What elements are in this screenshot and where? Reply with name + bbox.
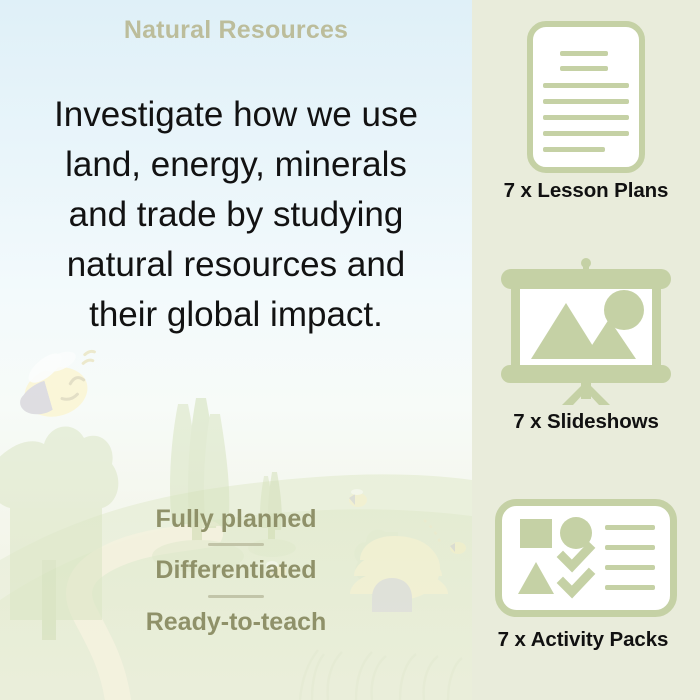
description-line: and trade by studying	[18, 190, 454, 240]
resource-item-lesson-plans[interactable]: 7 x Lesson Plans	[472, 14, 700, 203]
description-line: Investigate how we use	[18, 90, 454, 140]
feature-item-differentiated: Differentiated	[0, 557, 472, 583]
description-line: their global impact.	[18, 290, 454, 340]
resource-promo-poster: Natural Resources Investigate how we use…	[0, 0, 700, 700]
resource-label-activity-packs: 7 x Activity Packs	[466, 628, 700, 652]
feature-item-ready-to-teach: Ready-to-teach	[0, 609, 472, 635]
left-panel: Natural Resources Investigate how we use…	[0, 0, 472, 700]
document-icon	[527, 21, 645, 173]
activity-card-icon	[495, 499, 677, 617]
resource-label-slideshows: 7 x Slideshows	[472, 410, 700, 434]
resource-item-slideshows[interactable]: 7 x Slideshows	[472, 250, 700, 434]
description-line: natural resources and	[18, 240, 454, 290]
feature-list: Fully planned Differentiated Ready-to-te…	[0, 506, 472, 635]
projector-icon	[497, 255, 675, 405]
resource-panel: 7 x Lesson Plans	[472, 0, 700, 700]
description-line: land, energy, minerals	[18, 140, 454, 190]
projector-icon-wrap	[472, 250, 700, 410]
feature-divider	[208, 595, 264, 598]
page-title: Natural Resources	[0, 16, 472, 45]
resource-item-activity-packs[interactable]: 7 x Activity Packs	[472, 488, 700, 652]
resource-label-lesson-plans: 7 x Lesson Plans	[472, 179, 700, 203]
feature-divider	[208, 543, 264, 546]
feature-item-fully-planned: Fully planned	[0, 506, 472, 532]
document-icon-wrap	[472, 14, 700, 179]
activity-card-icon-wrap	[472, 488, 700, 628]
description-text: Investigate how we use land, energy, min…	[18, 90, 454, 340]
bee-illustration	[8, 338, 109, 425]
